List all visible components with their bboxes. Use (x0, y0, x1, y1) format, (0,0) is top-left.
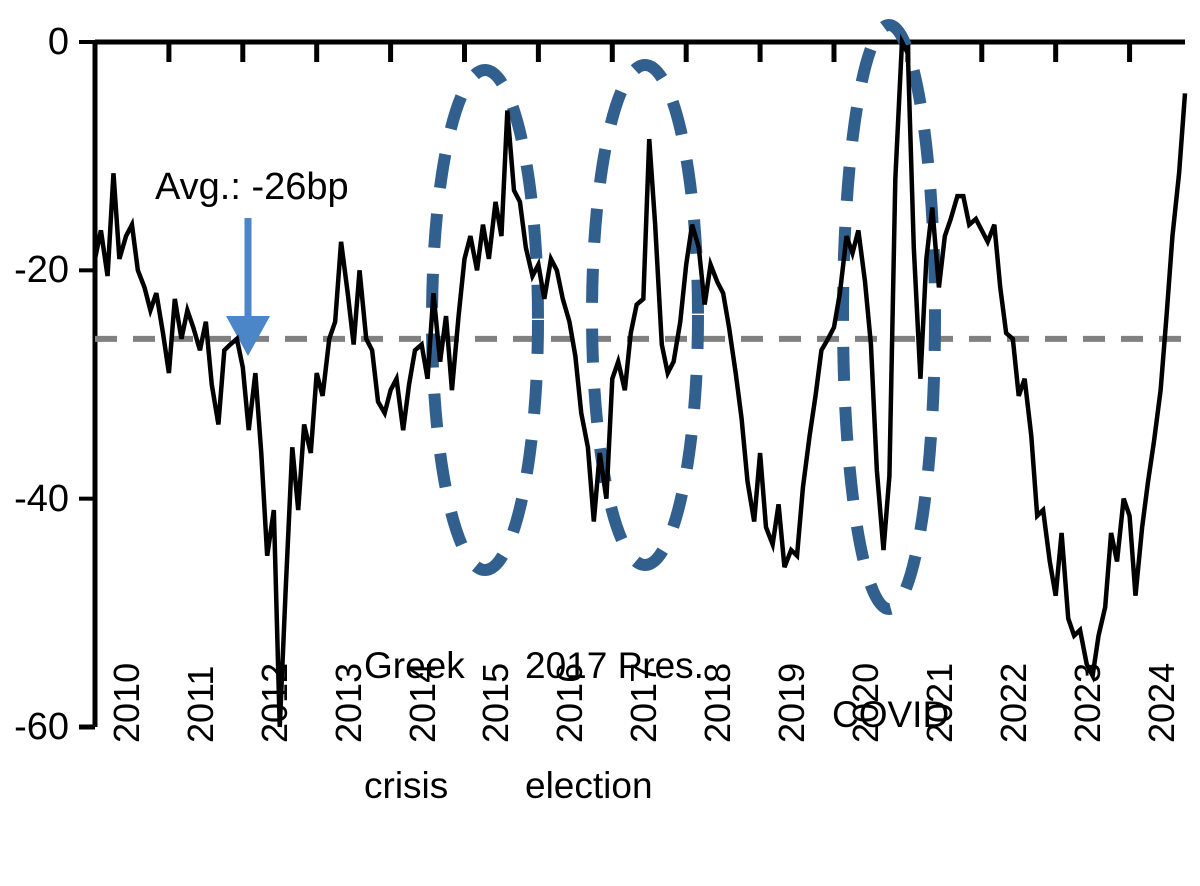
pres-election-line-1: 2017 Pres. (525, 646, 704, 686)
y-axis-tick-label: 0 (48, 23, 69, 61)
covid-line-1: COVID (832, 695, 949, 735)
greek-crisis-line-2: crisis (364, 766, 465, 806)
chart-container: 0-20-40-60 20102011201220132014201520162… (0, 0, 1200, 852)
greek-crisis-annotation: Greek crisis (364, 566, 465, 886)
x-axis-tick-label: 2010 (109, 663, 145, 743)
x-axis-tick-label: 2022 (996, 663, 1032, 743)
x-axis-tick-label: 2012 (257, 663, 293, 743)
x-axis-tick-label: 2015 (478, 663, 514, 743)
x-axis-tick-label: 2024 (1144, 663, 1180, 743)
covid-annotation: COVID (832, 615, 949, 815)
y-axis-tick-label: -60 (14, 708, 69, 746)
pres-election-annotation: 2017 Pres. election (525, 566, 704, 886)
x-axis-tick-label: 2019 (774, 663, 810, 743)
x-axis-tick-label: 2023 (1070, 663, 1106, 743)
pres-election-line-2: election (525, 766, 704, 806)
y-axis-tick-label: -20 (14, 251, 69, 289)
y-axis-tick-label: -40 (14, 480, 69, 518)
average-annotation-label: Avg.: -26bp (155, 168, 349, 206)
x-axis-tick-label: 2018 (700, 663, 736, 743)
greek-crisis-line-1: Greek (364, 646, 465, 686)
x-axis-tick-label: 2011 (183, 666, 219, 743)
x-axis-tick-label: 2013 (331, 663, 367, 743)
